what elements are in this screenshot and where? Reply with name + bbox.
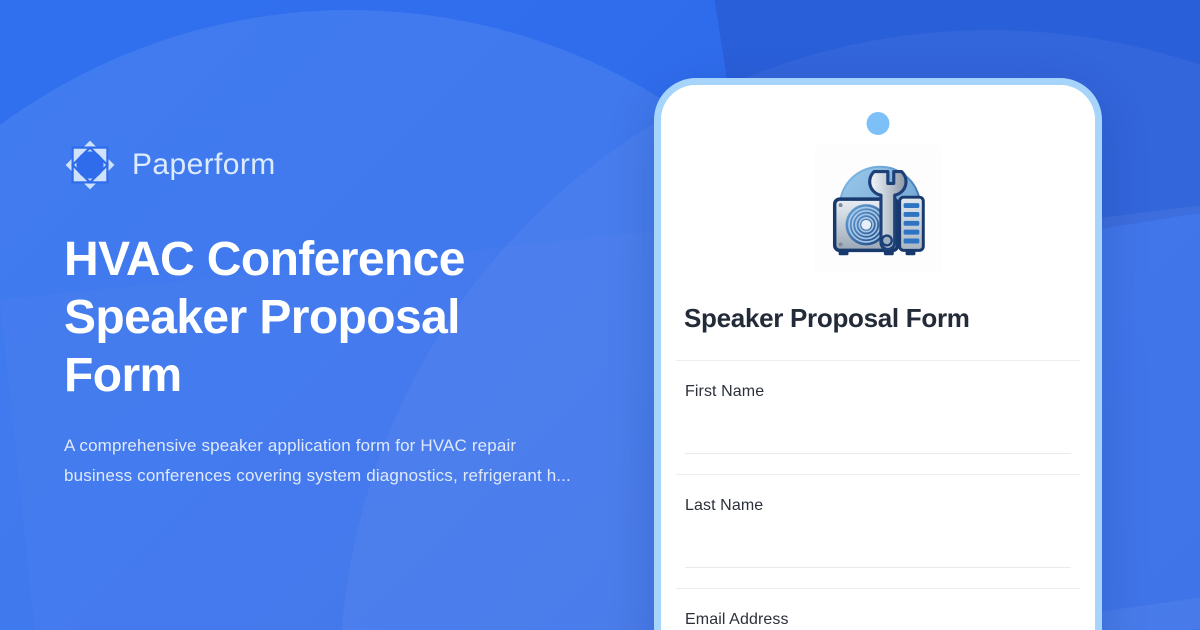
phone-screen: Speaker Proposal Form First Name Last Na… xyxy=(661,85,1095,630)
field-label: Email Address xyxy=(685,611,1071,629)
field-input-underline[interactable] xyxy=(685,453,1071,454)
brand-wordmark: Paperform xyxy=(132,148,276,182)
form-field-last-name[interactable]: Last Name xyxy=(676,474,1080,588)
form-field-first-name[interactable]: First Name xyxy=(676,360,1080,474)
field-input-underline[interactable] xyxy=(685,567,1071,568)
page-title: HVAC Conference Speaker Proposal Form xyxy=(64,231,544,405)
field-label: Last Name xyxy=(685,497,1071,515)
form-title: Speaker Proposal Form xyxy=(661,303,1095,334)
field-label: First Name xyxy=(685,383,1071,401)
paperform-star-circle-icon xyxy=(64,139,116,191)
phone-mockup: Speaker Proposal Form First Name Last Na… xyxy=(654,78,1102,630)
form-fields: First Name Last Name Email Address xyxy=(661,360,1095,630)
hvac-unit-wrench-icon xyxy=(815,145,941,273)
hero-text-column: Paperform HVAC Conference Speaker Propos… xyxy=(64,0,624,630)
page-description: A comprehensive speaker application form… xyxy=(64,431,584,492)
social-share-card: Paperform HVAC Conference Speaker Propos… xyxy=(0,0,1200,630)
brand-lockup: Paperform xyxy=(64,139,624,191)
camera-dot-icon xyxy=(867,112,890,135)
form-field-email-address[interactable]: Email Address xyxy=(676,588,1080,630)
